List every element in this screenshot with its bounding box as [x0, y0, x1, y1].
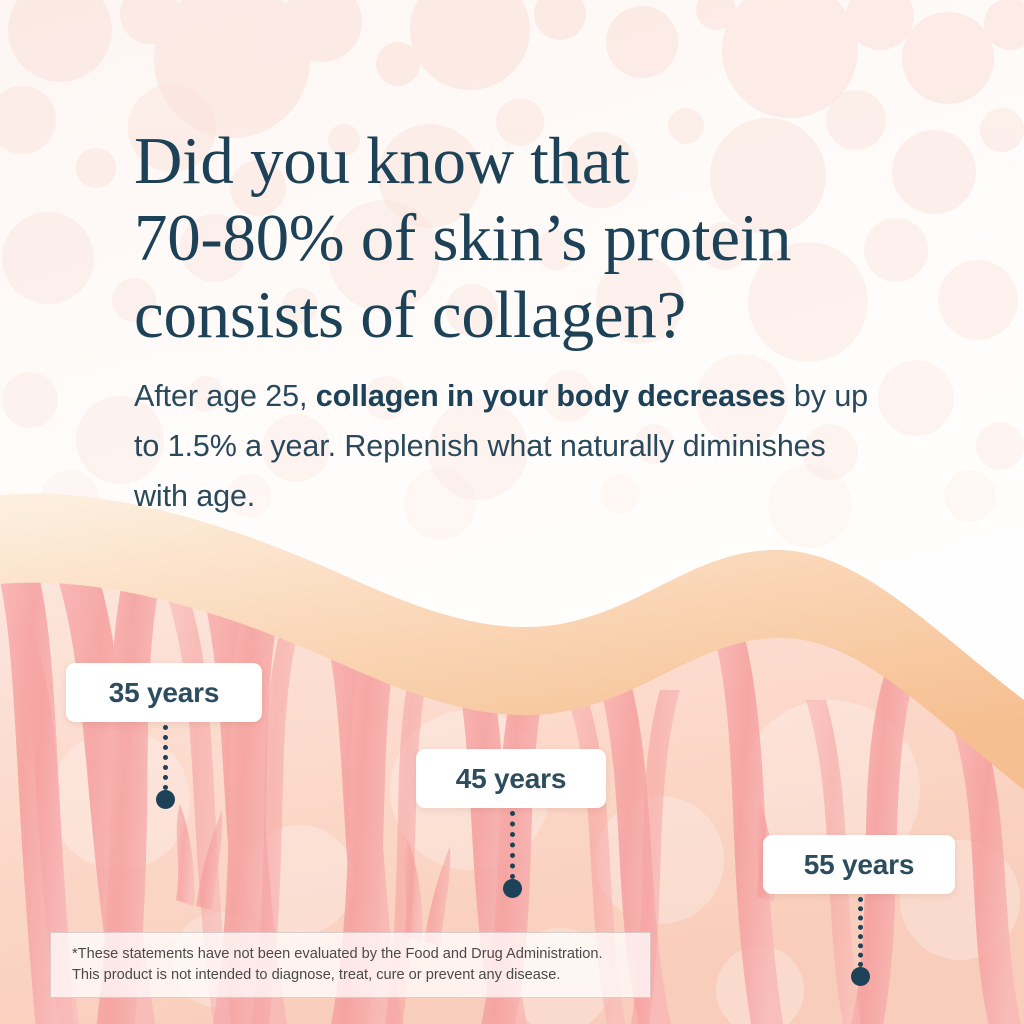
fda-disclaimer: *These statements have not been evaluate… — [50, 932, 651, 998]
leader-dot-45 — [503, 879, 522, 898]
age-chip-55[interactable]: 55 years — [763, 835, 955, 894]
collagen-infographic: Did you know that 70-80% of skin’s prote… — [0, 0, 1024, 1024]
leader-line-35 — [163, 725, 173, 790]
leader-dot-35 — [156, 790, 175, 809]
age-chip-35[interactable]: 35 years — [66, 663, 262, 722]
leader-line-55 — [858, 897, 868, 967]
age-chip-45[interactable]: 45 years — [416, 749, 606, 808]
disclaimer-line-2: This product is not intended to diagnose… — [72, 965, 650, 986]
leader-line-45 — [510, 811, 520, 879]
age-marker-45: 45 years — [416, 749, 608, 899]
leader-dot-55 — [851, 967, 870, 986]
age-marker-55: 55 years — [763, 835, 957, 987]
age-marker-35: 35 years — [66, 663, 266, 808]
disclaimer-line-1: *These statements have not been evaluate… — [72, 944, 650, 965]
